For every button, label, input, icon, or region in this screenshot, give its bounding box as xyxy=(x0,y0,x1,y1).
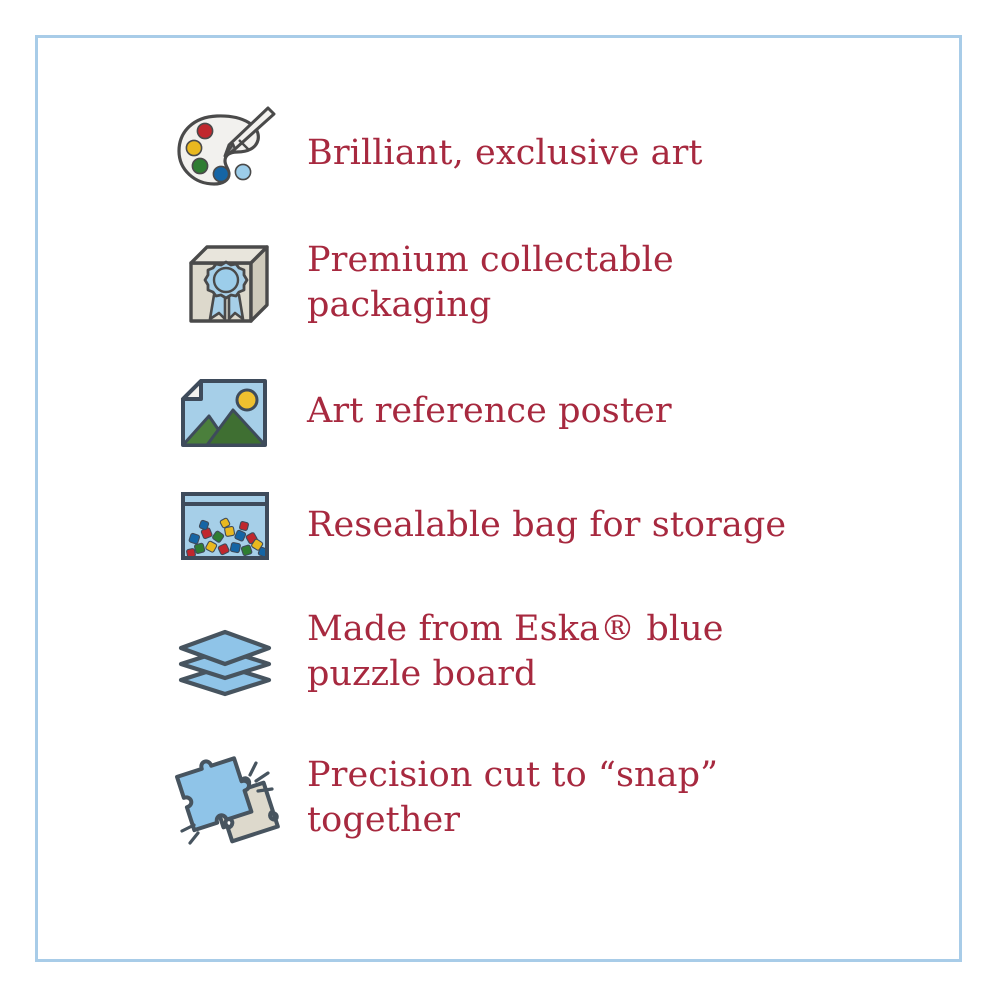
feature-label: Art reference poster xyxy=(285,389,672,435)
poster-picture-icon xyxy=(165,357,285,467)
feature-row: Art reference poster xyxy=(165,353,865,471)
feature-row: Premium collectable packaging xyxy=(165,213,865,353)
stacked-board-layers-icon xyxy=(165,597,285,707)
feature-row: Precision cut to “snap” together xyxy=(165,723,865,873)
premium-box-badge-icon xyxy=(165,228,285,338)
feature-label: Brilliant, exclusive art xyxy=(285,131,703,177)
feature-list-page: Brilliant, exclusive art xyxy=(0,0,1000,1000)
feature-label: Premium collectable packaging xyxy=(285,238,674,329)
paint-palette-icon xyxy=(165,99,285,209)
resealable-bag-icon xyxy=(165,471,285,581)
feature-row: Brilliant, exclusive art xyxy=(165,95,865,213)
feature-row: Made from Eska® blue puzzle board xyxy=(165,581,865,723)
feature-label: Resealable bag for storage xyxy=(285,503,786,549)
feature-label: Precision cut to “snap” together xyxy=(285,753,718,844)
feature-label: Made from Eska® blue puzzle board xyxy=(285,607,724,698)
feature-list: Brilliant, exclusive art xyxy=(165,95,865,925)
snapping-puzzle-pieces-icon xyxy=(165,743,285,853)
feature-row: Resealable bag for storage xyxy=(165,471,865,581)
